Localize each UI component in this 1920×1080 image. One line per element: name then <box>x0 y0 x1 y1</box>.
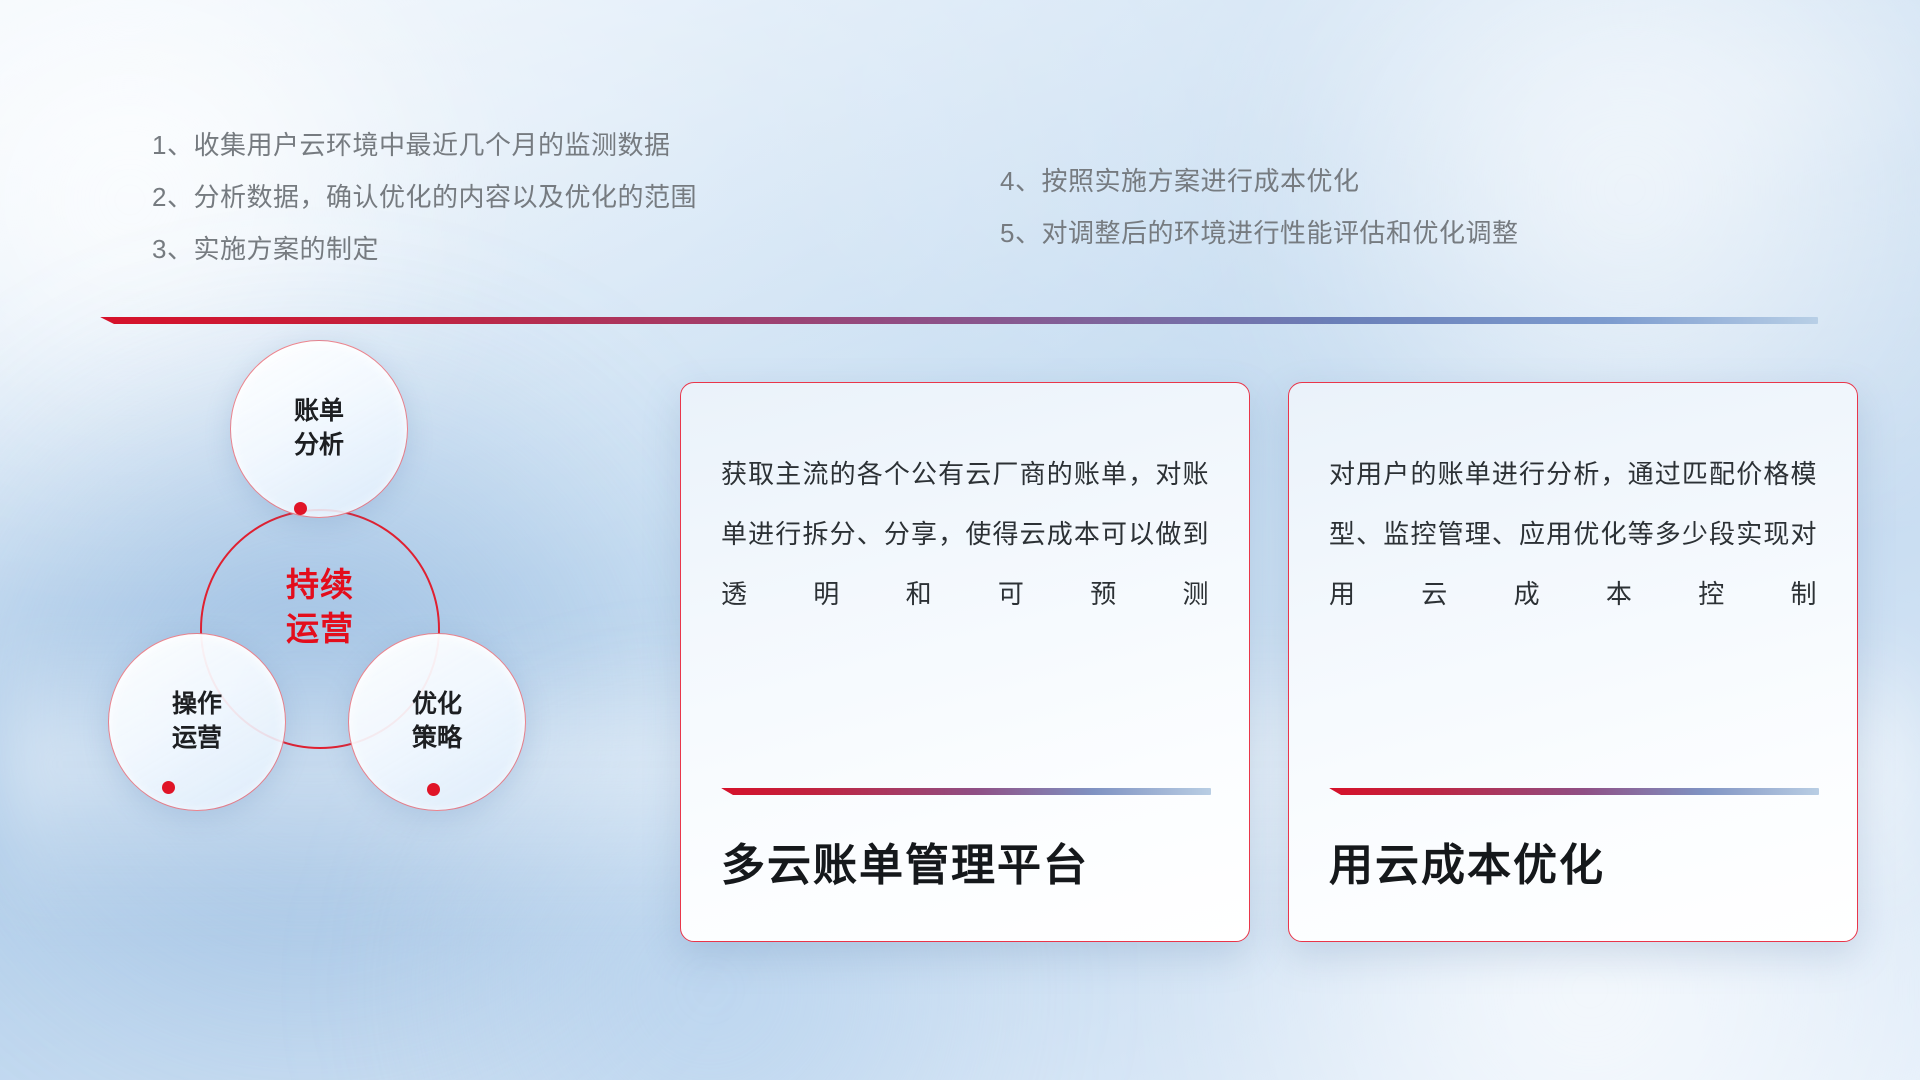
step-item-5: 5、对调整后的环境进行性能评估和优化调整 <box>1000 220 1518 246</box>
slide-canvas: 1、收集用户云环境中最近几个月的监测数据 2、分析数据，确认优化的内容以及优化的… <box>0 0 1920 1080</box>
step-item-4: 4、按照实施方案进行成本优化 <box>1000 168 1518 194</box>
bubble-bill-analysis-line-2: 分析 <box>294 429 344 463</box>
steps-list-left: 1、收集用户云环境中最近几个月的监测数据 2、分析数据，确认优化的内容以及优化的… <box>152 132 697 288</box>
card-right-body: 对用户的账单进行分析，通过匹配价格模型、监控管理、应用优化等多少段实现对用云成本… <box>1329 445 1817 624</box>
card-right-title: 用云成本优化 <box>1329 829 1817 893</box>
header-divider-rule <box>100 317 1818 324</box>
card-left-title: 多云账单管理平台 <box>721 829 1209 893</box>
card-left-body: 获取主流的各个公有云厂商的账单，对账单进行拆分、分享，使得云成本可以做到透明和可… <box>721 445 1209 624</box>
bubble-operations-line-2: 运营 <box>172 722 222 756</box>
bubble-optimization-strategy-line-1: 优化 <box>412 688 462 722</box>
bubble-bill-analysis-line-1: 账单 <box>294 395 344 429</box>
step-item-2: 2、分析数据，确认优化的内容以及优化的范围 <box>152 184 697 210</box>
center-label-line-2: 运营 <box>200 607 440 651</box>
bubble-operations[interactable]: 操作 运营 <box>108 633 286 811</box>
card-right-divider-rule <box>1329 788 1819 795</box>
node-dot-right-icon <box>427 783 440 796</box>
bubble-optimization-strategy-line-2: 策略 <box>412 722 462 756</box>
continuous-operation-diagram: 持续 运营 账单 分析 操作 运营 优化 策略 <box>100 355 620 955</box>
step-item-1: 1、收集用户云环境中最近几个月的监测数据 <box>152 132 697 158</box>
center-label-line-1: 持续 <box>200 563 440 607</box>
bubble-bill-analysis[interactable]: 账单 分析 <box>230 340 408 518</box>
bubble-operations-line-1: 操作 <box>172 688 222 722</box>
card-left-divider-rule <box>721 788 1211 795</box>
steps-list-right: 4、按照实施方案进行成本优化 5、对调整后的环境进行性能评估和优化调整 <box>1000 168 1518 272</box>
diagram-center-label: 持续 运营 <box>200 563 440 651</box>
card-cloud-cost-optimization[interactable]: 对用户的账单进行分析，通过匹配价格模型、监控管理、应用优化等多少段实现对用云成本… <box>1288 382 1858 942</box>
node-dot-left-icon <box>162 781 175 794</box>
step-item-3: 3、实施方案的制定 <box>152 236 697 262</box>
node-dot-top-icon <box>294 502 307 515</box>
card-multi-cloud-bill-platform[interactable]: 获取主流的各个公有云厂商的账单，对账单进行拆分、分享，使得云成本可以做到透明和可… <box>680 382 1250 942</box>
